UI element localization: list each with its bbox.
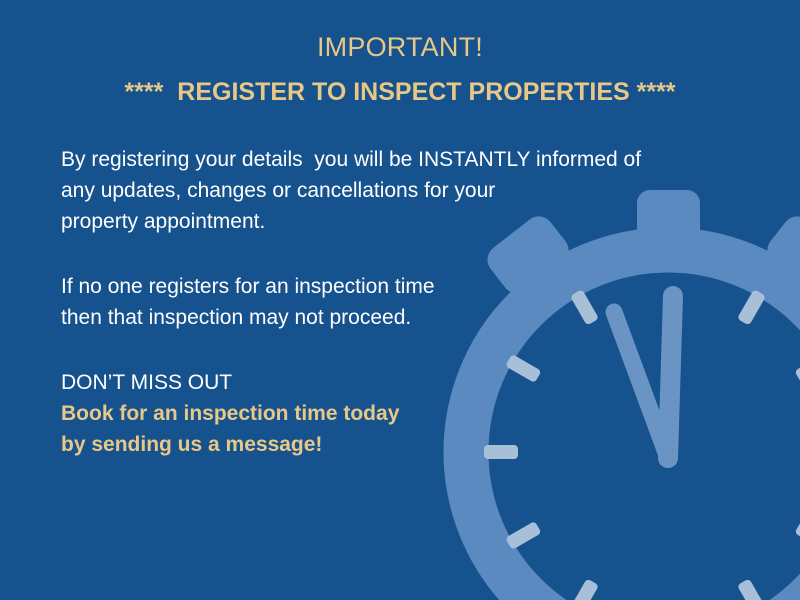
body-copy: By registering your details you will be … xyxy=(61,144,721,460)
slide-canvas: IMPORTANT! **** REGISTER TO INSPECT PROP… xyxy=(0,0,800,600)
paragraph-no-registration-line-1: If no one registers for an inspection ti… xyxy=(61,271,721,302)
page-title: IMPORTANT! xyxy=(0,30,800,64)
paragraph-no-registration: If no one registers for an inspection ti… xyxy=(61,271,721,333)
paragraph-registering-line-1: By registering your details you will be … xyxy=(61,144,721,175)
paragraph-registering-line-2: any updates, changes or cancellations fo… xyxy=(61,175,721,206)
heading-block: IMPORTANT! **** REGISTER TO INSPECT PROP… xyxy=(0,30,800,109)
cta-book-inspection: Book for an inspection time today xyxy=(61,398,721,429)
paragraph-registering-line-3: property appointment. xyxy=(61,206,721,237)
cta-send-message: by sending us a message! xyxy=(61,429,721,460)
paragraph-registering: By registering your details you will be … xyxy=(61,144,721,237)
paragraph-no-registration-line-2: then that inspection may not proceed. xyxy=(61,302,721,333)
cta-dont-miss-out: DON’T MISS OUT xyxy=(61,367,721,398)
call-to-action-block: DON’T MISS OUT Book for an inspection ti… xyxy=(61,367,721,460)
page-subtitle: **** REGISTER TO INSPECT PROPERTIES **** xyxy=(0,75,800,109)
clock-lug-right xyxy=(761,210,800,299)
